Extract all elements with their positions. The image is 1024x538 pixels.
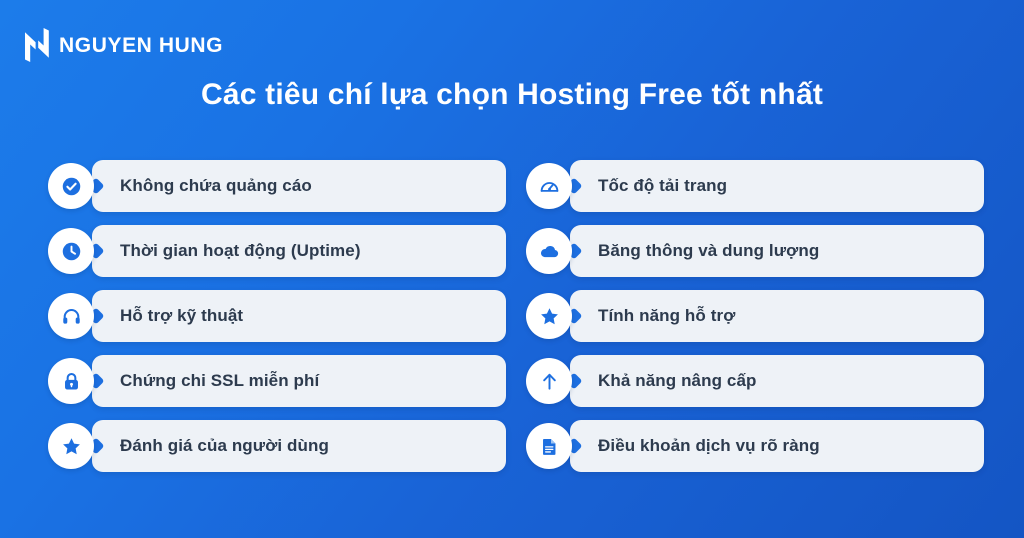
criteria-item[interactable]: Chứng chi SSL miễn phí <box>48 355 506 407</box>
check-circle-icon <box>48 163 94 209</box>
speedometer-icon <box>526 163 572 209</box>
criteria-pill[interactable]: Băng thông và dung lượng <box>570 225 984 277</box>
criteria-item[interactable]: Hỗ trợ kỹ thuật <box>48 290 506 342</box>
criteria-item[interactable]: Tốc độ tải trang <box>526 160 984 212</box>
criteria-label: Điều khoản dịch vụ rõ ràng <box>570 436 836 456</box>
criteria-pill[interactable]: Điều khoản dịch vụ rõ ràng <box>570 420 984 472</box>
criteria-pill[interactable]: Hỗ trợ kỹ thuật <box>92 290 506 342</box>
criteria-label: Khả năng nâng cấp <box>570 371 773 391</box>
star-icon <box>48 423 94 469</box>
criteria-label: Băng thông và dung lượng <box>570 241 835 261</box>
document-icon <box>526 423 572 469</box>
criteria-pill[interactable]: Tính năng hỗ trợ <box>570 290 984 342</box>
clock-icon <box>48 228 94 274</box>
page-title: Các tiêu chí lựa chọn Hosting Free tốt n… <box>0 76 1024 114</box>
criteria-pill[interactable]: Chứng chi SSL miễn phí <box>92 355 506 407</box>
infographic-poster: NGUYEN HUNG Các tiêu chí lựa chọn Hostin… <box>0 0 1024 538</box>
criteria-item[interactable]: Điều khoản dịch vụ rõ ràng <box>526 420 984 472</box>
criteria-label: Tính năng hỗ trợ <box>570 306 751 326</box>
criteria-item[interactable]: Tính năng hỗ trợ <box>526 290 984 342</box>
criteria-pill[interactable]: Khả năng nâng cấp <box>570 355 984 407</box>
criteria-item[interactable]: Đánh giá của người dùng <box>48 420 506 472</box>
criteria-pill[interactable]: Không chứa quảng cáo <box>92 160 506 212</box>
cloud-icon <box>526 228 572 274</box>
criteria-label: Tốc độ tải trang <box>570 176 743 196</box>
criteria-pill[interactable]: Đánh giá của người dùng <box>92 420 506 472</box>
criteria-item[interactable]: Không chứa quảng cáo <box>48 160 506 212</box>
criteria-pill[interactable]: Tốc độ tải trang <box>570 160 984 212</box>
criteria-label: Đánh giá của người dùng <box>92 436 345 456</box>
criteria-item[interactable]: Thời gian hoạt động (Uptime) <box>48 225 506 277</box>
criteria-label: Không chứa quảng cáo <box>92 176 328 196</box>
nguyen-hung-n-logo-icon <box>24 28 50 62</box>
criteria-label: Chứng chi SSL miễn phí <box>92 371 335 391</box>
criteria-grid: Không chứa quảng cáo Tốc độ tải trang <box>48 160 984 472</box>
criteria-label: Hỗ trợ kỹ thuật <box>92 306 259 326</box>
arrow-up-icon <box>526 358 572 404</box>
criteria-item[interactable]: Băng thông và dung lượng <box>526 225 984 277</box>
criteria-item[interactable]: Khả năng nâng cấp <box>526 355 984 407</box>
criteria-label: Thời gian hoạt động (Uptime) <box>92 241 377 261</box>
brand-logo: NGUYEN HUNG <box>24 28 223 62</box>
brand-name: NGUYEN HUNG <box>59 35 223 56</box>
headset-icon <box>48 293 94 339</box>
lock-icon <box>48 358 94 404</box>
criteria-pill[interactable]: Thời gian hoạt động (Uptime) <box>92 225 506 277</box>
star-icon <box>526 293 572 339</box>
